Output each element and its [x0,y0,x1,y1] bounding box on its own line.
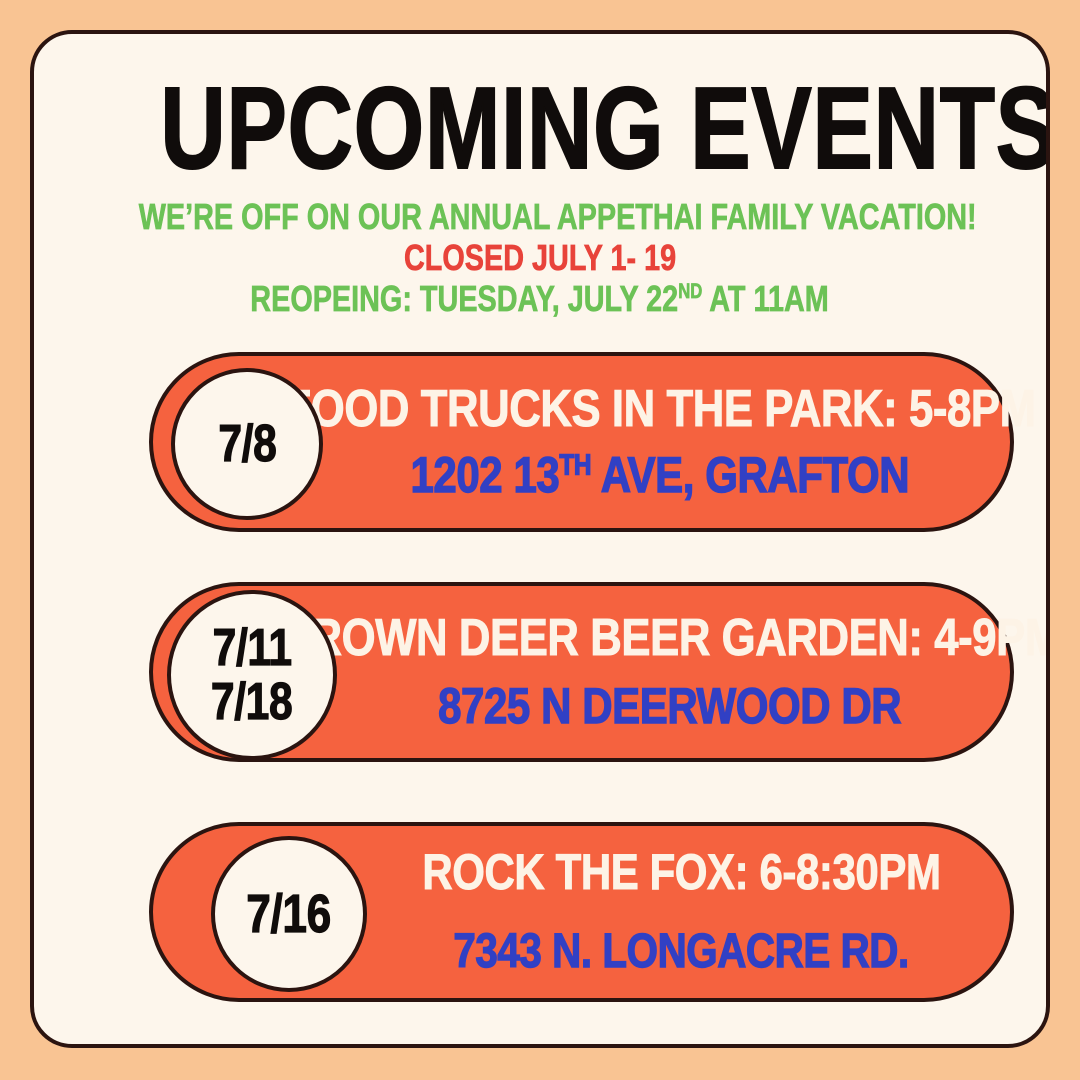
event-title: BROWN DEER BEER GARDEN: 4-9PM [279,609,1050,667]
event-date: 7/11 [212,621,291,675]
event-title: ROCK THE FOX: 6-8:30PM [422,843,940,901]
event-address: 1202 13TH AVE, GRAFTON [411,446,910,504]
event-address-superscript: TH [560,449,592,481]
event-date: 7/16 [247,887,332,941]
event-details: FOOD TRUCKS IN THE PARK: 5-8PM 1202 13TH… [338,356,982,528]
event-card[interactable]: 7/11 7/18 BROWN DEER BEER GARDEN: 4-9PM … [149,582,1014,762]
events-list: 7/8 FOOD TRUCKS IN THE PARK: 5-8PM 1202 … [34,34,1046,1044]
event-address-prefix: 1202 13 [411,447,560,503]
poster-panel: UPCOMING EVENTS WE’RE OFF ON OUR ANNUAL … [30,30,1050,1048]
event-date-badge: 7/16 [211,836,367,992]
event-address-prefix: 7343 N. LONGACRE RD. [454,925,909,978]
event-address: 8725 N DEERWOOD DR [438,677,901,735]
event-details: ROCK THE FOX: 6-8:30PM 7343 N. LONGACRE … [383,826,980,998]
event-title: FOOD TRUCKS IN THE PARK: 5-8PM [284,380,1035,438]
event-date-secondary: 7/18 [211,675,292,729]
event-address-prefix: 8725 N DEERWOOD DR [438,678,901,734]
event-address: 7343 N. LONGACRE RD. [454,923,909,981]
event-poster: UPCOMING EVENTS WE’RE OFF ON OUR ANNUAL … [0,0,1080,1080]
event-date-badge: 7/8 [171,368,323,520]
event-date-badge: 7/11 7/18 [167,590,337,760]
event-date: 7/8 [218,417,276,471]
event-card[interactable]: 7/16 ROCK THE FOX: 6-8:30PM 7343 N. LONG… [149,822,1014,1002]
event-details: BROWN DEER BEER GARDEN: 4-9PM 8725 N DEE… [348,586,992,758]
event-address-suffix: AVE, GRAFTON [591,447,909,503]
event-card[interactable]: 7/8 FOOD TRUCKS IN THE PARK: 5-8PM 1202 … [149,352,1014,532]
